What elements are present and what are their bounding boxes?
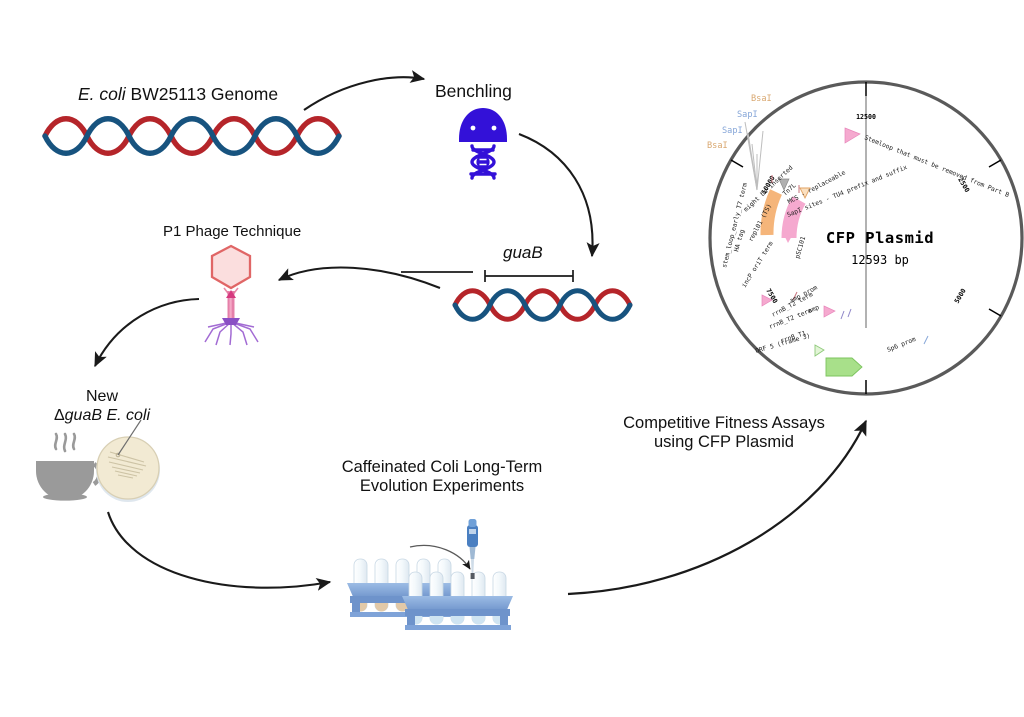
plasmid-tick-12500: 12500 xyxy=(856,113,876,121)
arrow-genome-to-benchling xyxy=(304,77,424,110)
workflow-diagram: 12500 2500 5000 7500 10000 BsaI SapI Sap… xyxy=(0,0,1024,717)
plasmid-size: 12593 bp xyxy=(790,253,970,267)
arrow-phage-to-newcoli xyxy=(95,299,199,366)
dna-helix-genome xyxy=(45,119,339,154)
site-bsai-2: BsaI xyxy=(707,141,728,151)
genome-label: E. coli BW25113 Genome xyxy=(78,84,278,105)
site-bsai-1: BsaI xyxy=(751,94,772,104)
bacteriophage-icon xyxy=(205,246,258,345)
agar-plate-icon xyxy=(96,420,160,502)
new-strain-label: NewΔguaB E. coli xyxy=(27,388,177,426)
evolution-experiments-label: Caffeinated Coli Long-TermEvolution Expe… xyxy=(312,458,572,497)
guab-gene-label: guaB xyxy=(503,243,543,263)
site-sapi-2: SapI xyxy=(722,126,743,136)
site-sapi-1: SapI xyxy=(737,110,758,120)
plasmid-name: CFP Plasmid xyxy=(790,229,970,247)
coffee-cup-icon xyxy=(36,434,99,501)
arrow-newcoli-to-evolution xyxy=(108,512,330,588)
benchling-logo-icon xyxy=(459,108,507,178)
test-tube-rack-right xyxy=(402,572,513,630)
arrow-guab-to-phage xyxy=(279,268,440,288)
micropipette-icon xyxy=(467,519,478,579)
guab-span-bracket xyxy=(485,270,573,282)
dna-helix-guab xyxy=(401,270,630,319)
phage-technique-label: P1 Phage Technique xyxy=(163,223,301,241)
benchling-label: Benchling xyxy=(435,81,512,102)
arrow-benchling-to-guab xyxy=(519,134,593,256)
fitness-assays-label: Competitive Fitness Assaysusing CFP Plas… xyxy=(596,414,852,453)
